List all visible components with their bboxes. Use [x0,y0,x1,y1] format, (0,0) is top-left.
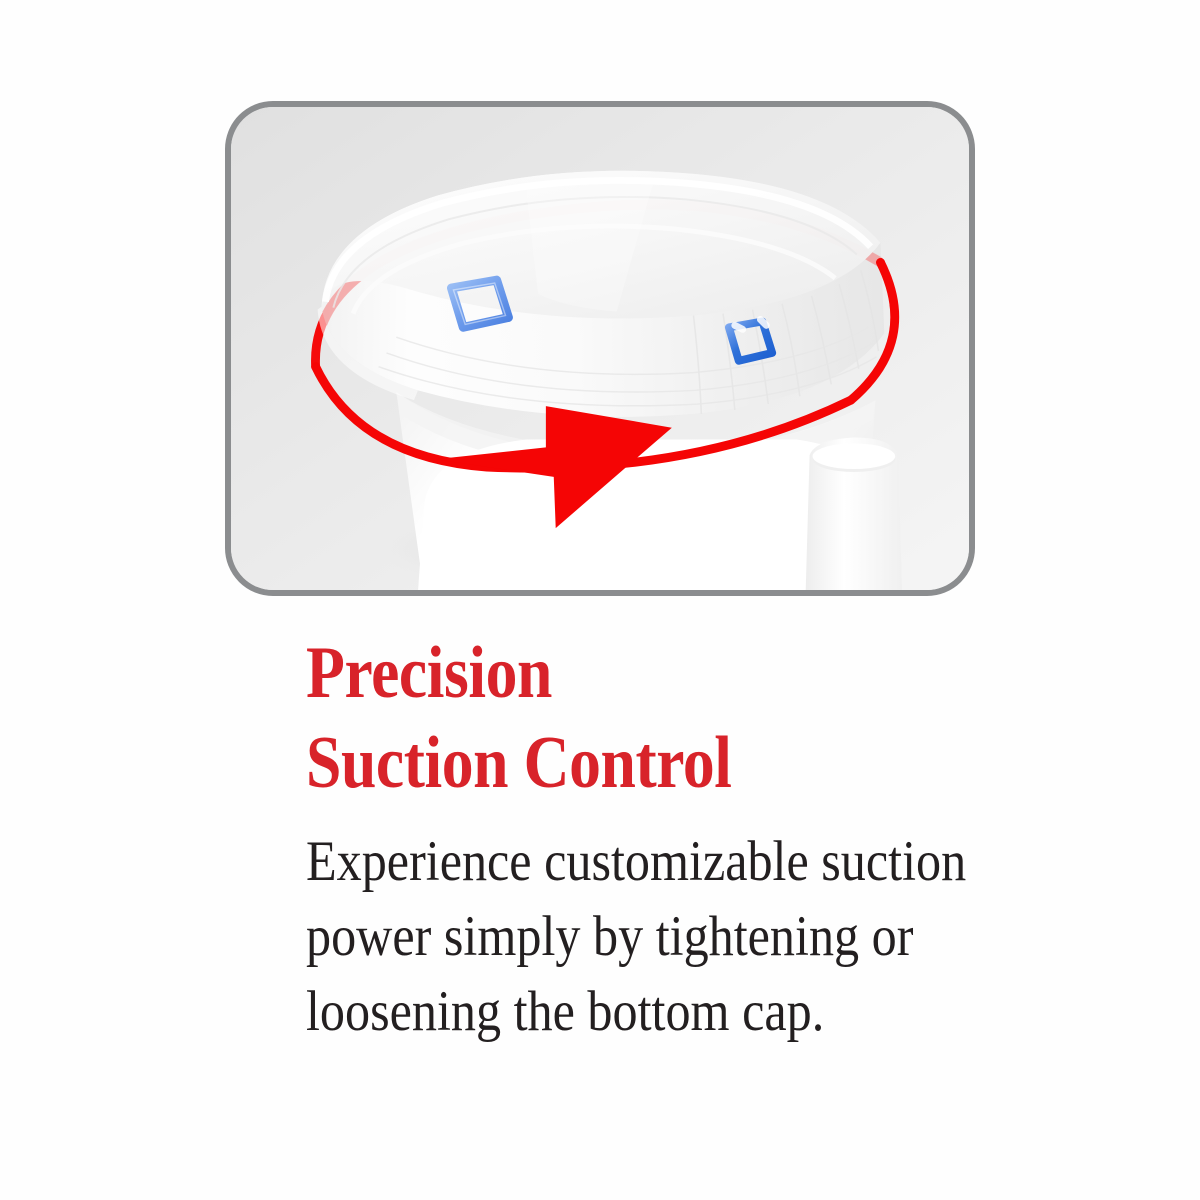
product-image-panel [225,101,975,596]
headline-line-1: Precision [306,632,552,714]
feature-headline: Precision Suction Control [306,628,908,809]
feature-description: Experience customizable suction power si… [306,824,975,1050]
product-illustration [231,107,969,590]
feature-card: Precision Suction Control Experience cus… [0,0,1200,1200]
headline-line-2: Suction Control [306,722,732,804]
